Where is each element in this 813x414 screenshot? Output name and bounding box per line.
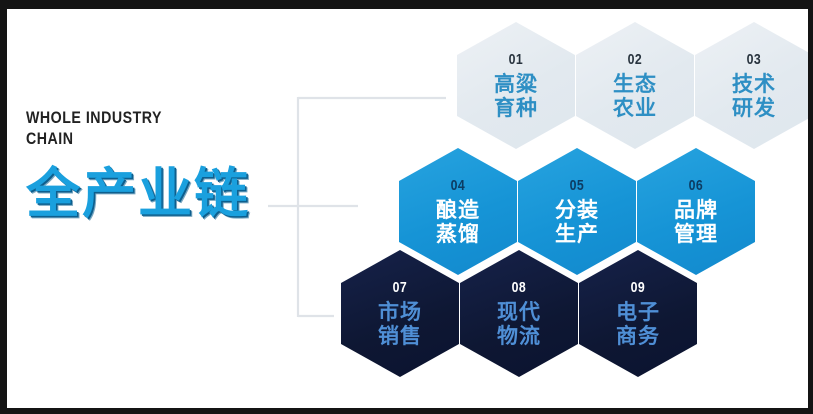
hex-label-line-2: 蒸馏 <box>436 222 480 246</box>
hex-cell-08[interactable]: 08现代物流 <box>460 250 578 377</box>
hex-label-line-1: 现代 <box>497 300 541 324</box>
hex-cell-04[interactable]: 04酿造蒸馏 <box>399 148 517 275</box>
hex-label-line-1: 分装 <box>555 198 599 222</box>
slide-canvas: WHOLE INDUSTRY CHAIN 全产业链 01高粱育种02生态农业03… <box>0 0 813 414</box>
hex-label-line-2: 育种 <box>494 96 538 120</box>
hex-label: 现代物流 <box>497 300 541 348</box>
hex-number: 03 <box>747 52 762 68</box>
hex-label: 高粱育种 <box>494 72 538 120</box>
hex-cell-09[interactable]: 09电子商务 <box>579 250 697 377</box>
hex-cell-01[interactable]: 01高粱育种 <box>457 22 575 149</box>
hex-label-line-1: 酿造 <box>436 198 480 222</box>
hex-label-line-2: 销售 <box>378 324 422 348</box>
hex-number: 01 <box>509 52 524 68</box>
hex-number: 07 <box>393 280 408 296</box>
hex-label: 酿造蒸馏 <box>436 198 480 246</box>
hex-cell-06[interactable]: 06品牌管理 <box>637 148 755 275</box>
hex-label-line-2: 生产 <box>555 222 599 246</box>
hex-label-line-1: 电子 <box>616 300 660 324</box>
hex-cell-03[interactable]: 03技术研发 <box>695 22 813 149</box>
hexagon-grid: 01高粱育种02生态农业03技术研发04酿造蒸馏05分装生产06品牌管理07市场… <box>0 0 813 414</box>
hex-label-line-1: 品牌 <box>674 198 718 222</box>
hex-number: 05 <box>570 178 585 194</box>
hex-cell-02[interactable]: 02生态农业 <box>576 22 694 149</box>
hex-label-line-1: 生态 <box>613 72 657 96</box>
hex-number: 09 <box>631 280 646 296</box>
hex-label: 分装生产 <box>555 198 599 246</box>
hex-number: 08 <box>512 280 527 296</box>
hex-label-line-1: 市场 <box>378 300 422 324</box>
hex-label-line-1: 高粱 <box>494 72 538 96</box>
hex-number: 06 <box>689 178 704 194</box>
hex-label: 市场销售 <box>378 300 422 348</box>
hex-label: 生态农业 <box>613 72 657 120</box>
hex-number: 04 <box>451 178 466 194</box>
hex-number: 02 <box>628 52 643 68</box>
hex-label-line-1: 技术 <box>732 72 776 96</box>
hex-label-line-2: 物流 <box>497 324 541 348</box>
hex-cell-05[interactable]: 05分装生产 <box>518 148 636 275</box>
hex-label-line-2: 商务 <box>616 324 660 348</box>
hex-label-line-2: 农业 <box>613 96 657 120</box>
hex-cell-07[interactable]: 07市场销售 <box>341 250 459 377</box>
hex-label: 品牌管理 <box>674 198 718 246</box>
hex-label: 电子商务 <box>616 300 660 348</box>
hex-label-line-2: 管理 <box>674 222 718 246</box>
hex-label-line-2: 研发 <box>732 96 776 120</box>
hex-label: 技术研发 <box>732 72 776 120</box>
